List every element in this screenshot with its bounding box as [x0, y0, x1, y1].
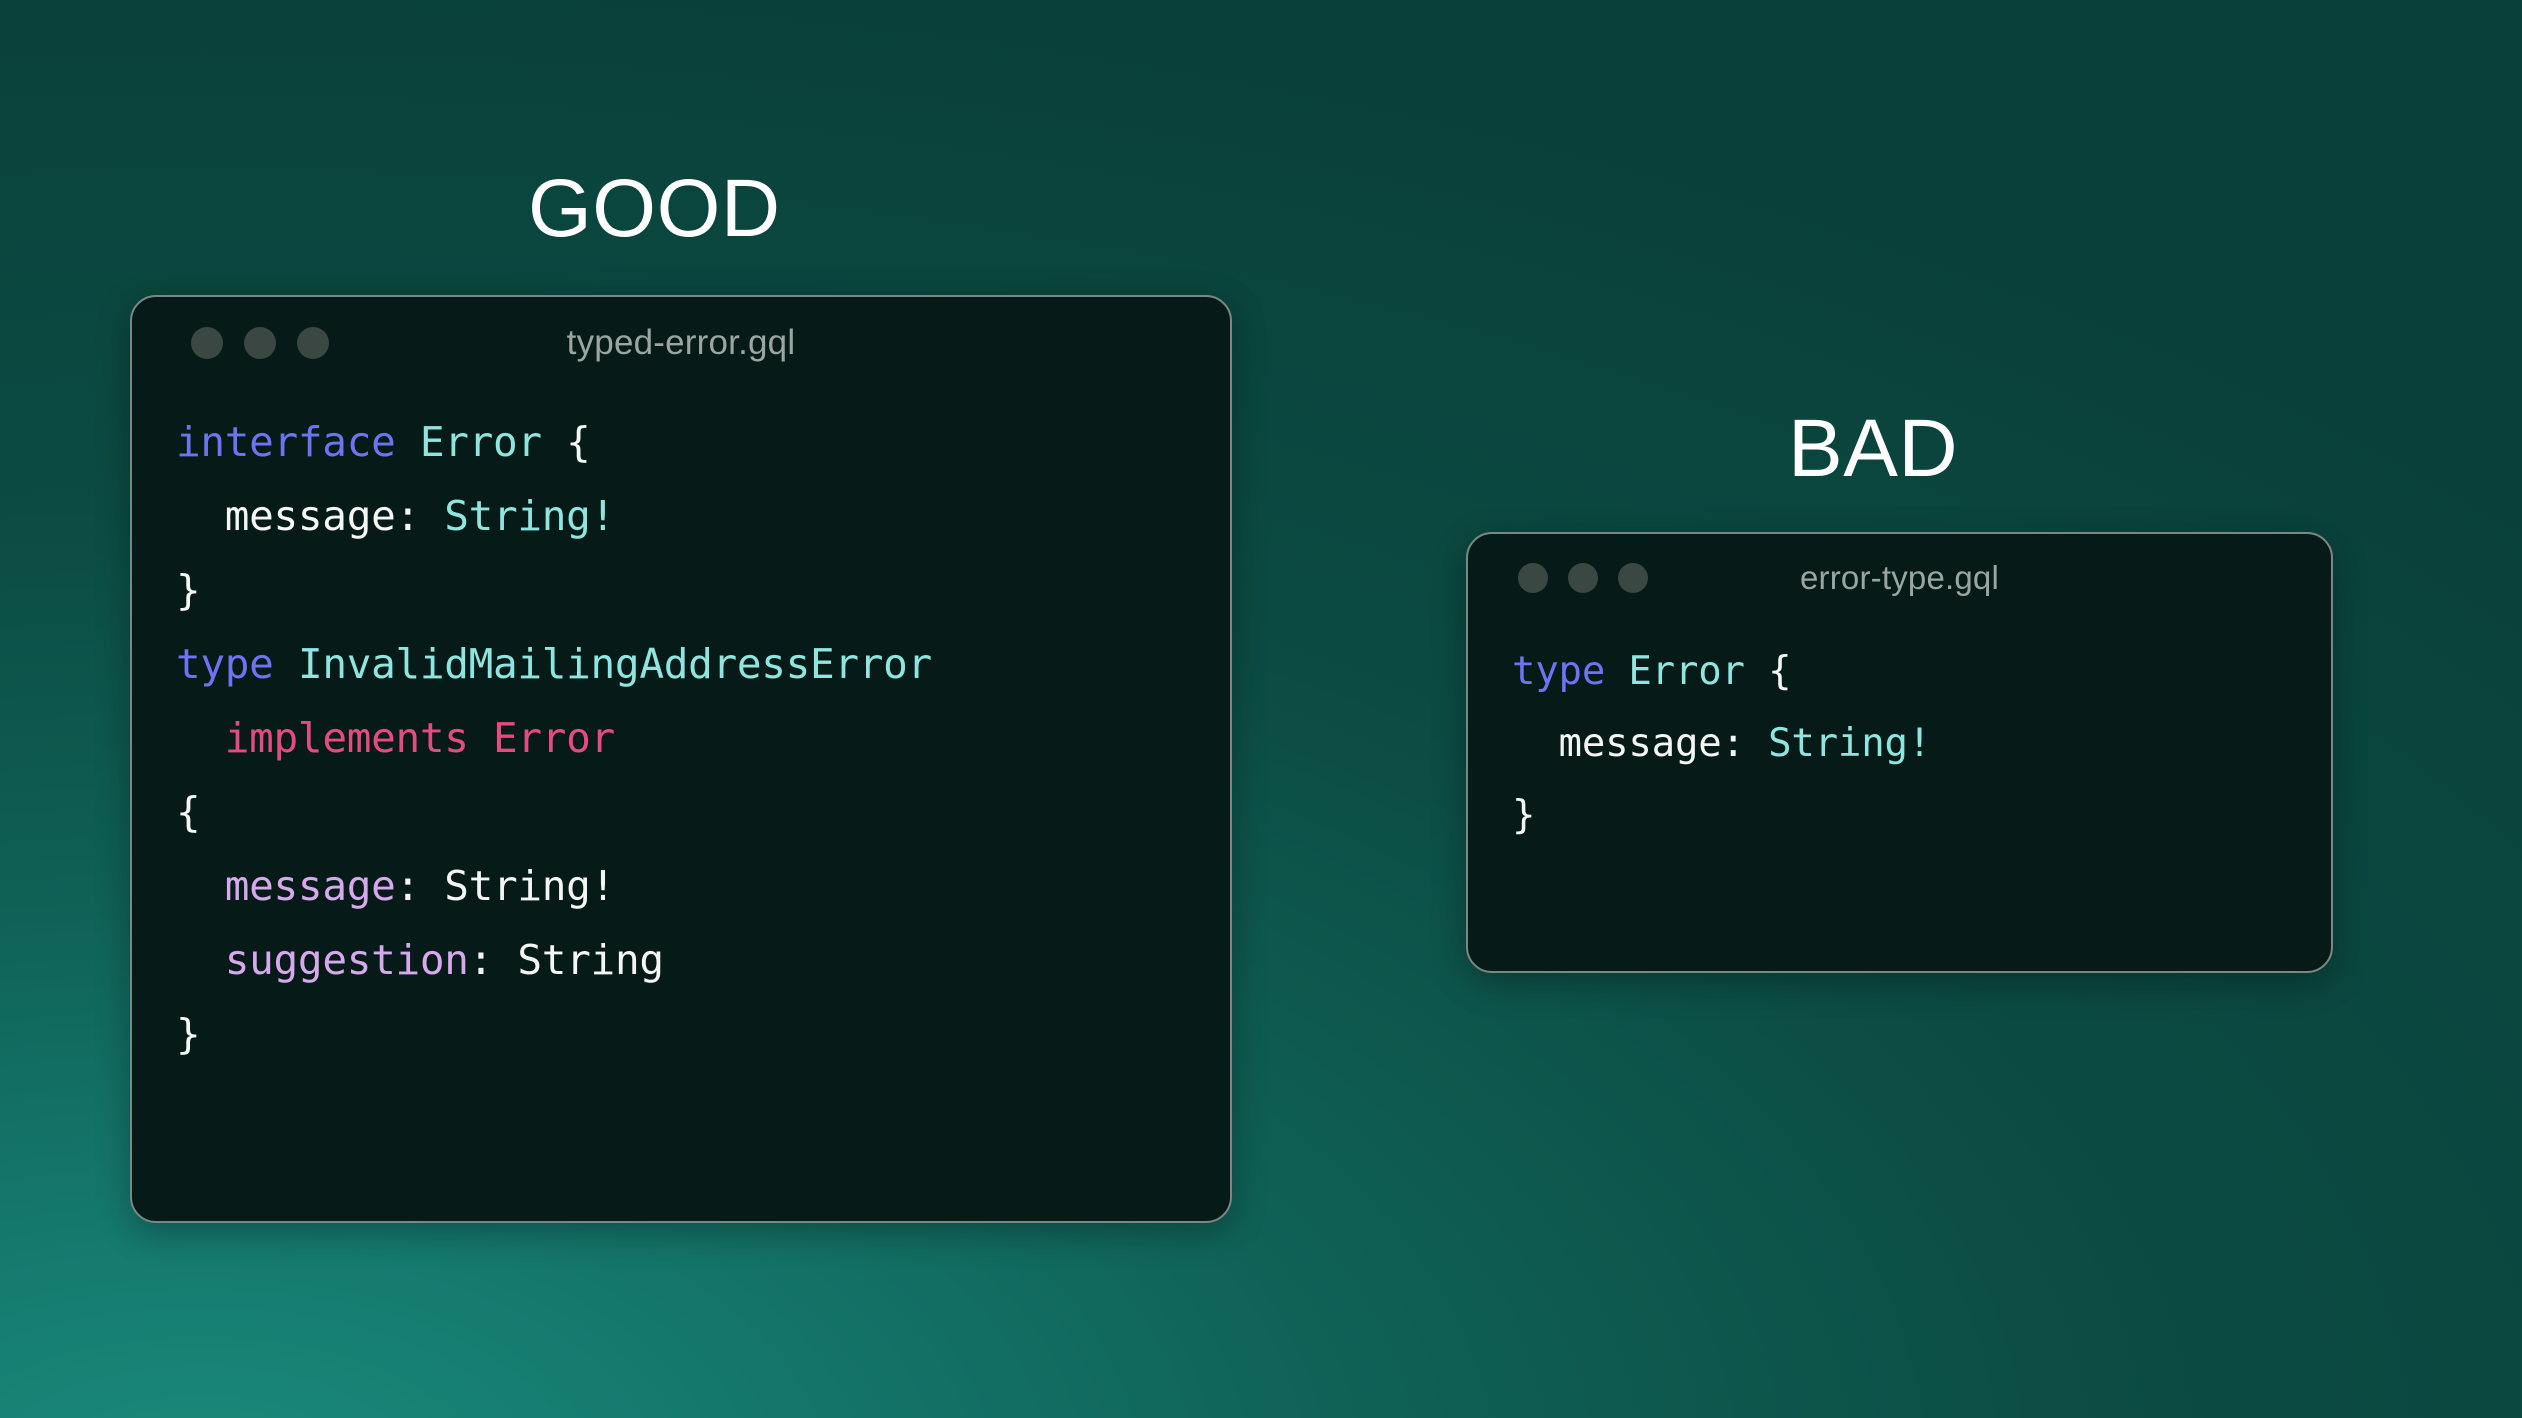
code-token: message — [1512, 721, 1722, 766]
code-token: InvalidMailingAddressError — [298, 640, 932, 688]
code-token: suggestion — [225, 936, 469, 984]
maximize-dot-icon[interactable] — [297, 327, 329, 359]
code-line: { — [176, 775, 1230, 849]
code-token — [176, 936, 225, 984]
code-line: type InvalidMailingAddressError — [176, 627, 1230, 701]
code-token: String — [517, 936, 663, 984]
code-token: implements Error — [225, 714, 615, 762]
code-token: message — [176, 492, 395, 540]
code-token: : — [395, 862, 444, 910]
titlebar-bad: error-type.gql — [1468, 534, 2331, 622]
code-window-bad: error-type.gql type Error { message: Str… — [1466, 532, 2333, 973]
code-window-good: typed-error.gql interface Error { messag… — [130, 295, 1232, 1223]
code-token: Error — [420, 418, 542, 466]
code-token — [274, 640, 298, 688]
code-token: type — [176, 640, 274, 688]
code-token — [395, 418, 419, 466]
code-line: } — [1512, 780, 2331, 852]
close-dot-icon[interactable] — [1518, 563, 1548, 593]
minimize-dot-icon[interactable] — [1568, 563, 1598, 593]
maximize-dot-icon[interactable] — [1618, 563, 1648, 593]
code-block-bad: type Error { message: String!} — [1468, 622, 2331, 852]
close-dot-icon[interactable] — [191, 327, 223, 359]
section-label-bad: BAD — [1788, 408, 1958, 490]
code-token: Error — [1628, 649, 1744, 694]
code-token: : — [469, 936, 518, 984]
titlebar-good: typed-error.gql — [132, 297, 1230, 389]
code-line: interface Error { — [176, 405, 1230, 479]
code-line: message: String! — [1512, 708, 2331, 780]
code-token: interface — [176, 418, 395, 466]
code-token: { — [1768, 649, 1791, 694]
code-token: { — [566, 418, 590, 466]
code-token: : — [395, 492, 444, 540]
code-token: { — [176, 788, 200, 836]
code-token — [176, 714, 225, 762]
section-label-good: GOOD — [528, 168, 781, 250]
code-token: } — [176, 1010, 200, 1058]
code-token: String! — [444, 862, 615, 910]
code-line: message: String! — [176, 849, 1230, 923]
code-token: String! — [444, 492, 615, 540]
code-line: } — [176, 553, 1230, 627]
code-token — [1745, 649, 1768, 694]
code-token: : — [1722, 721, 1769, 766]
code-line: type Error { — [1512, 636, 2331, 708]
code-line: implements Error — [176, 701, 1230, 775]
traffic-lights-bad — [1518, 563, 1648, 593]
minimize-dot-icon[interactable] — [244, 327, 276, 359]
code-token — [1605, 649, 1628, 694]
code-token: } — [176, 566, 200, 614]
slide-canvas: GOOD typed-error.gql interface Error { m… — [0, 0, 2522, 1418]
code-token — [542, 418, 566, 466]
code-token — [176, 862, 225, 910]
code-token: String! — [1768, 721, 1931, 766]
code-token: message — [225, 862, 396, 910]
traffic-lights-good — [191, 327, 329, 359]
code-line: message: String! — [176, 479, 1230, 553]
code-block-good: interface Error { message: String!}type … — [132, 389, 1230, 1071]
code-token: type — [1512, 649, 1605, 694]
code-line: suggestion: String — [176, 923, 1230, 997]
code-line: } — [176, 997, 1230, 1071]
code-token: } — [1512, 793, 1535, 838]
